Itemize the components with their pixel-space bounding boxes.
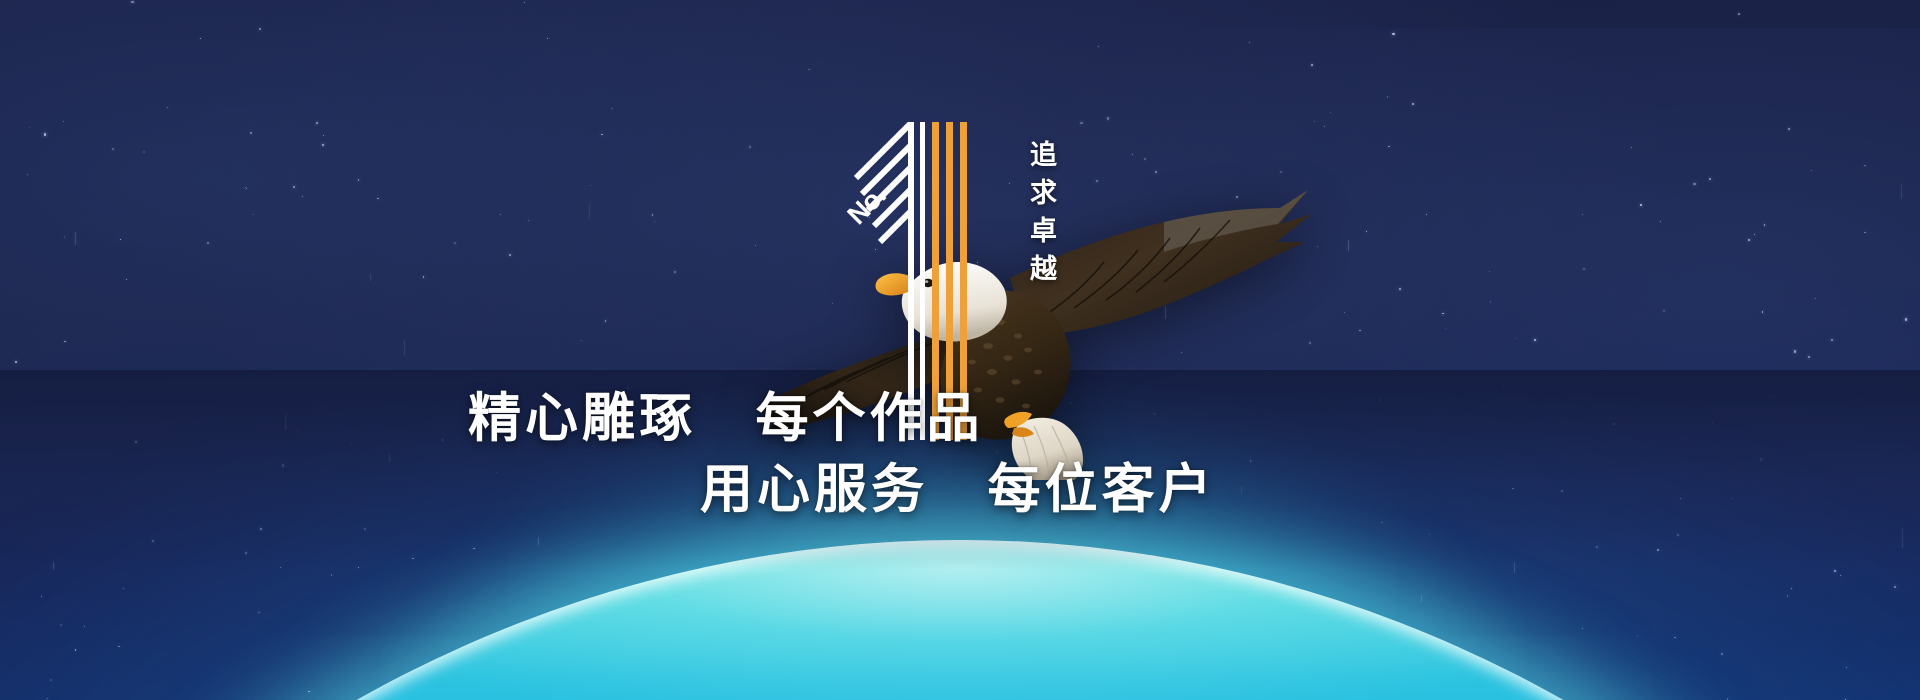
headline-line-1-a: 精心雕琢 [468, 389, 696, 448]
headline-line-1: 精心雕琢 每个作品 [0, 383, 1200, 454]
headline-line-2-b: 每位客户 [987, 460, 1215, 519]
headline-line-1-b: 每个作品 [755, 389, 983, 448]
vertical-slogan: 追求卓越 [1008, 140, 1054, 292]
hero-banner: No. 追求卓越 精心雕琢 每个作品 用心服务 每位客户 [0, 0, 1920, 700]
headline-block: 精心雕琢 每个作品 用心服务 每位客户 [0, 383, 1200, 525]
headline-line-2-a: 用心服务 [700, 460, 928, 519]
headline-line-2: 用心服务 每位客户 [0, 454, 1200, 525]
